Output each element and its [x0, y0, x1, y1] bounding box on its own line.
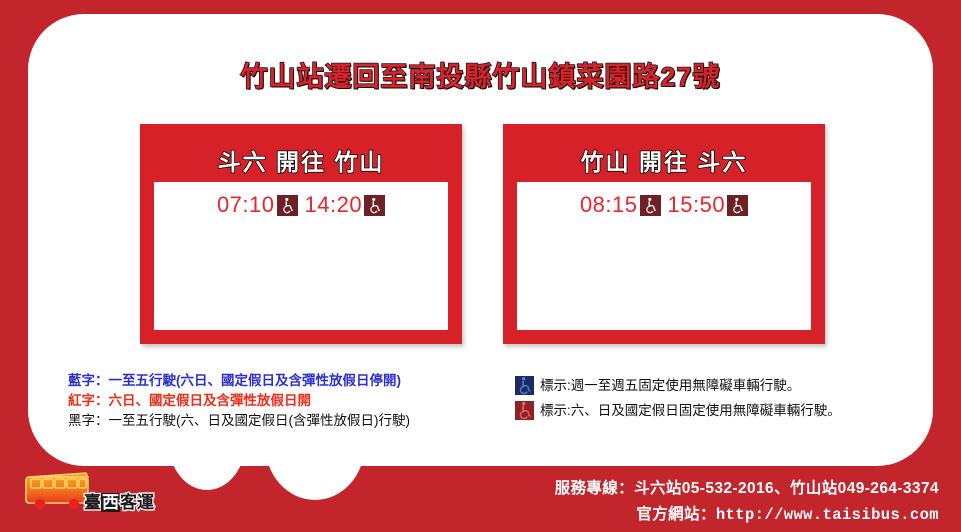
legend-black-text: 黑字：一至五行駛(六、日及國定假日(含彈性放假日)行駛)	[68, 411, 410, 431]
departure-time-entry: 15:50	[668, 192, 749, 218]
departure-time-row: 08:15 15:50	[517, 192, 811, 218]
legend-row-weekday: 標示:週一至週五固定使用無障礙車輛行駛。	[515, 373, 841, 398]
departure-time-entry: 08:15	[580, 192, 661, 218]
departure-time: 08:15	[580, 192, 638, 218]
departure-time-entry: 14:20	[305, 192, 386, 218]
board-header-label: 竹山 開往 斗六	[517, 138, 811, 182]
departure-time: 14:20	[305, 192, 363, 218]
departure-time-entry: 07:10	[217, 192, 298, 218]
logo-char-3: 客運	[120, 493, 154, 512]
departure-time: 07:10	[217, 192, 275, 218]
service-hotline: 服務專線：斗六站05-532-2016、竹山站049-264-3374	[555, 476, 939, 498]
departure-time-row: 07:10 14:20	[154, 192, 448, 218]
wheelchair-icon-blue	[515, 376, 534, 395]
legend-row-holiday: 標示:六、日及國定假日固定使用無障礙車輛行駛。	[515, 398, 841, 423]
page-title: 竹山站遷回至南投縣竹山鎮菜園路27號	[0, 55, 961, 94]
board-header-label: 斗六 開往 竹山	[154, 138, 448, 182]
legend-red-text: 紅字：六日、國定假日及含彈性放假日開	[68, 391, 410, 411]
wheelchair-icon	[364, 195, 385, 216]
wheelchair-icon-red	[515, 401, 534, 420]
company-logo: 臺西客運	[24, 462, 194, 522]
logo-char-1: 臺	[84, 493, 101, 512]
logo-char-2: 西	[101, 493, 120, 512]
legend-blue-text: 藍字：一至五行駛(六日、國定假日及含彈性放假日停開)	[68, 371, 410, 391]
wheelchair-icon	[727, 195, 748, 216]
board-body: 08:15 15:50	[517, 182, 811, 330]
legend-weekday-text: 標示:週一至週五固定使用無障礙車輛行駛。	[540, 373, 800, 398]
footer-contact: 服務專線：斗六站05-532-2016、竹山站049-264-3374 官方網站…	[555, 476, 939, 524]
official-website-row: 官方網站：http://www.taisibus.com	[555, 502, 939, 524]
departure-time: 15:50	[668, 192, 726, 218]
official-website-url[interactable]: http://www.taisibus.com	[716, 506, 939, 524]
official-website-label: 官方網站：	[636, 506, 716, 523]
poster-background: 竹山站遷回至南投縣竹山鎮菜園路27號 斗六 開往 竹山 07:10	[0, 0, 961, 532]
legend-color-key: 藍字：一至五行駛(六日、國定假日及含彈性放假日停開) 紅字：六日、國定假日及含彈…	[68, 371, 410, 431]
legend-accessibility-key: 標示:週一至週五固定使用無障礙車輛行駛。 標示:六、日及國定假日固定使用無障礙車…	[515, 373, 841, 423]
logo-text: 臺西客運	[84, 488, 154, 513]
board-body: 07:10 14:20	[154, 182, 448, 330]
timetable-board-douliu-to-zhushan: 斗六 開往 竹山 07:10 14:20	[140, 124, 462, 344]
timetable-board-zhushan-to-douliu: 竹山 開往 斗六 08:15 15:50	[503, 124, 825, 344]
legend-holiday-text: 標示:六、日及國定假日固定使用無障礙車輛行駛。	[540, 398, 841, 423]
wheelchair-icon	[277, 195, 298, 216]
wheelchair-icon	[640, 195, 661, 216]
